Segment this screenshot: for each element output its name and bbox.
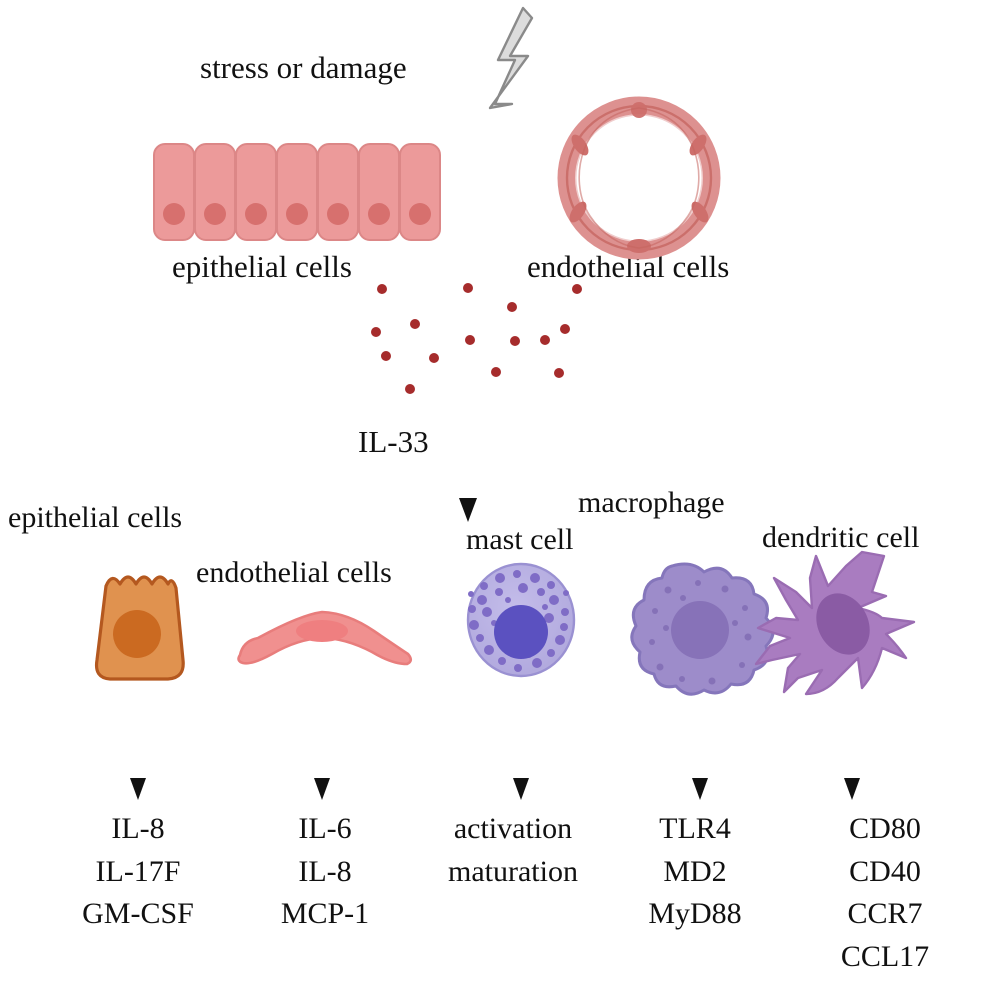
macrophage-label: macrophage — [578, 488, 725, 518]
output-item: GM-CSF — [38, 893, 238, 936]
output-arrow-epithelial — [130, 688, 146, 800]
output-item: IL-17F — [38, 851, 238, 894]
epithelial-cell-label: epithelial cells — [8, 503, 182, 533]
figure-canvas: stress or damage epithelial cells endoth… — [0, 0, 992, 992]
output-item: IL-8 — [38, 808, 238, 851]
epithelium-sheet — [154, 144, 440, 240]
epithelial-cell-graphic — [97, 577, 184, 679]
endothelial-cell-label: endothelial cells — [196, 558, 392, 588]
outputs-macrophage: TLR4 MD2 MyD88 — [605, 808, 785, 936]
output-item: CD40 — [790, 851, 980, 894]
epithelial-cells-top-label: epithelial cells — [172, 251, 352, 282]
outputs-epithelial-cell: IL-8 IL-17F GM-CSF — [38, 808, 238, 936]
il33-label: IL-33 — [358, 426, 429, 457]
output-arrow-mast — [513, 685, 529, 800]
epithelium-cell — [318, 144, 358, 240]
il33-dots — [371, 283, 582, 394]
outputs-dendritic-cell: CD80 CD40 CCR7 CCL17 — [790, 808, 980, 978]
output-arrow-macrophage — [692, 700, 708, 800]
output-item: CCR7 — [790, 893, 980, 936]
mast-cell-label: mast cell — [466, 525, 573, 555]
stress-or-damage-label: stress or damage — [200, 52, 407, 83]
output-item: activation — [413, 808, 613, 851]
il33-arrow — [459, 379, 477, 522]
output-arrow-dendritic — [844, 706, 860, 800]
output-item: MCP-1 — [230, 893, 420, 936]
output-item: CD80 — [790, 808, 980, 851]
output-item: MD2 — [605, 851, 785, 894]
output-item: maturation — [413, 851, 613, 894]
output-item: IL-6 — [230, 808, 420, 851]
epithelium-cell — [236, 144, 276, 240]
outputs-mast-cell: activation maturation — [413, 808, 613, 893]
output-arrow-endothelial — [314, 668, 330, 800]
dendritic-cell-graphic — [756, 552, 914, 694]
epithelium-cell — [195, 144, 235, 240]
mast-cell-graphic — [468, 564, 574, 676]
dendritic-cell-label: dendritic cell — [762, 523, 919, 553]
macrophage-graphic — [632, 564, 773, 694]
output-item: TLR4 — [605, 808, 785, 851]
epithelium-cell — [400, 144, 440, 240]
epithelium-cell — [277, 144, 317, 240]
outputs-endothelial-cell: IL-6 IL-8 MCP-1 — [230, 808, 420, 936]
endothelial-cell-graphic — [239, 612, 411, 664]
output-item: IL-8 — [230, 851, 420, 894]
epithelium-cell — [359, 144, 399, 240]
output-item: CCL17 — [790, 936, 980, 979]
endothelial-cells-top-label: endothelial cells — [527, 251, 729, 282]
output-item: MyD88 — [605, 893, 785, 936]
epithelium-cell — [154, 144, 194, 240]
endothelium-ring — [566, 102, 712, 253]
lightning-bolt-icon — [490, 8, 532, 108]
